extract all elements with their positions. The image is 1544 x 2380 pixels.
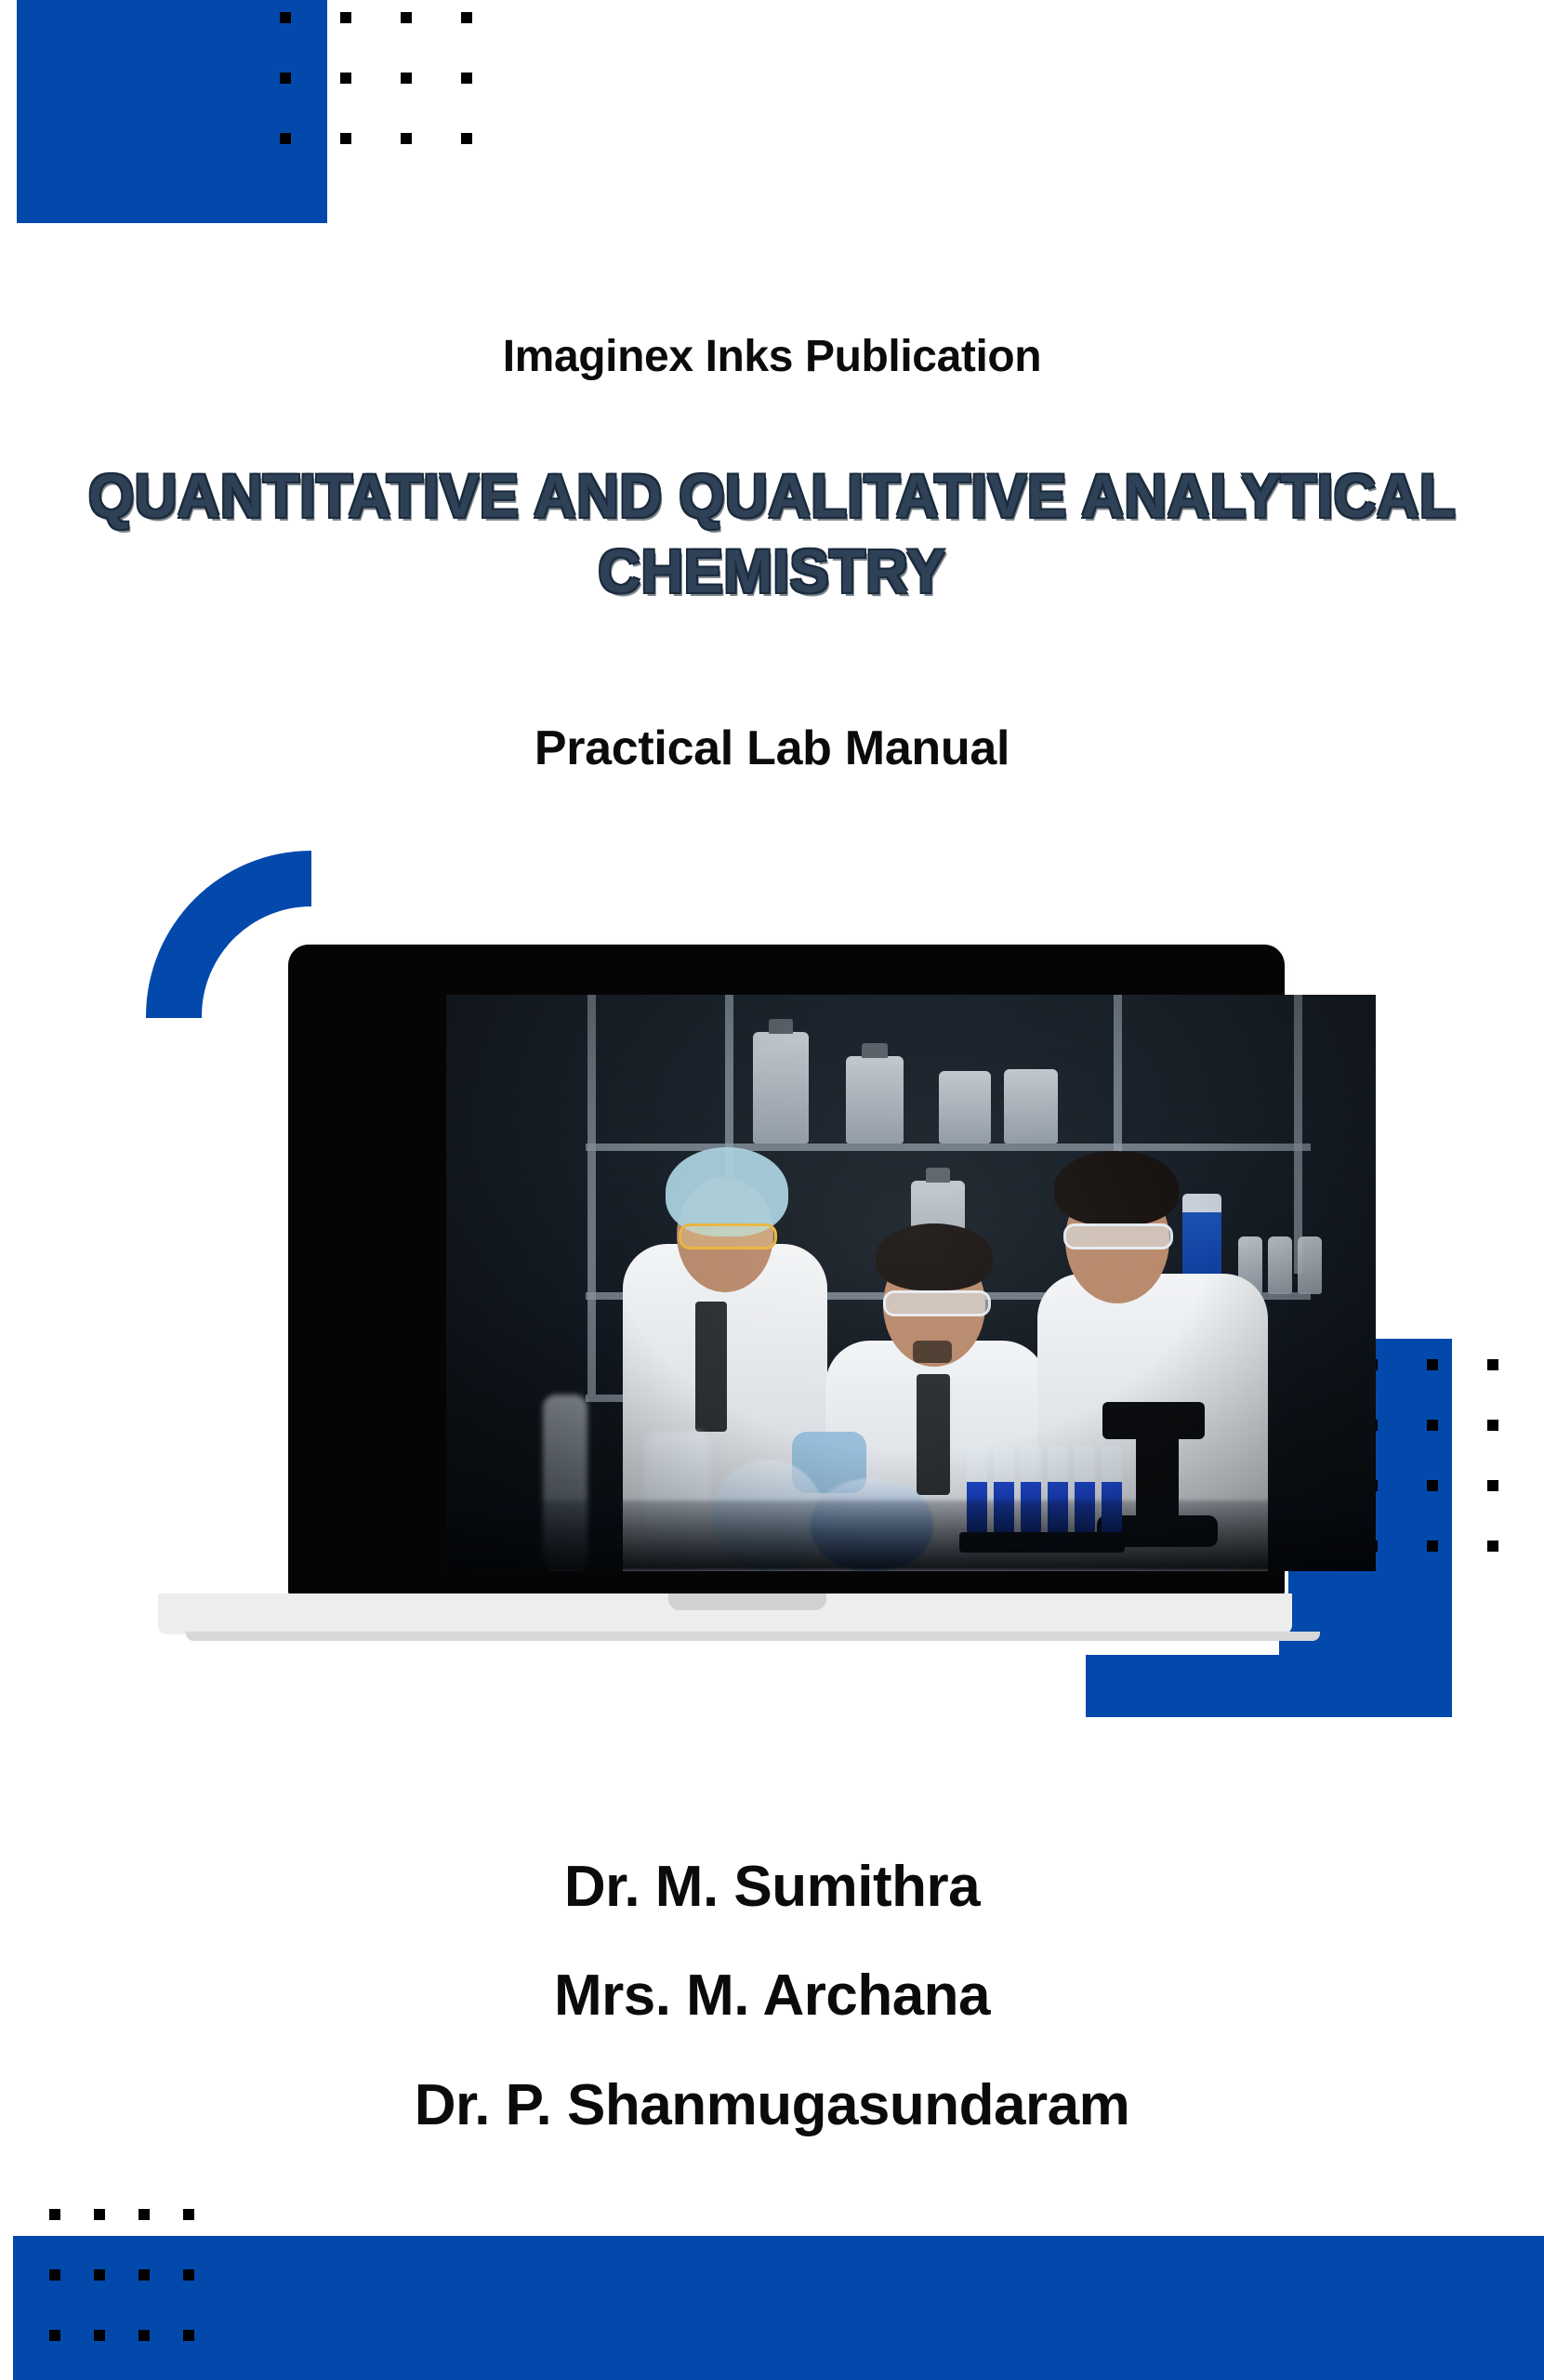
dot: [139, 2209, 150, 2220]
title-line-1: QUANTITATIVE AND QUALITATIVE ANALYTICAL: [85, 458, 1459, 534]
page-title: QUANTITATIVE AND QUALITATIVE ANALYTICAL …: [85, 458, 1459, 608]
lab-photo: [446, 995, 1376, 1571]
dot: [94, 2209, 105, 2220]
dot: [401, 73, 412, 84]
author-name: Dr. P. Shanmugasundaram: [0, 2073, 1544, 2137]
dot: [49, 2330, 60, 2341]
dot: [1427, 1359, 1438, 1370]
dot: [340, 73, 351, 84]
dot: [94, 2269, 105, 2281]
dot: [183, 2269, 194, 2281]
dot: [401, 12, 412, 23]
laptop-mockup: [158, 945, 1366, 1679]
right-dot-grid: [1366, 1359, 1544, 1601]
top-left-dot-grid: [280, 12, 521, 193]
title-line-2: CHEMISTRY: [85, 534, 1459, 609]
dot: [280, 73, 291, 84]
dot: [139, 2330, 150, 2341]
subtitle: Practical Lab Manual: [0, 721, 1544, 776]
dot: [1487, 1359, 1498, 1370]
dot: [94, 2330, 105, 2341]
dot: [1427, 1420, 1438, 1431]
dot: [461, 133, 472, 144]
dot: [461, 12, 472, 23]
dot: [183, 2330, 194, 2341]
laptop-lid: [288, 945, 1285, 1595]
book-cover: Imaginex Inks Publication QUANTITATIVE A…: [0, 0, 1544, 2380]
dot: [461, 73, 472, 84]
dot: [340, 133, 351, 144]
dot: [183, 2209, 194, 2220]
dot: [401, 133, 412, 144]
publisher-name: Imaginex Inks Publication: [0, 331, 1544, 382]
author-name: Mrs. M. Archana: [0, 1963, 1544, 2028]
dot: [49, 2269, 60, 2281]
laptop-screen: [446, 995, 1376, 1571]
bottom-dot-grid: [49, 2209, 228, 2380]
bottom-blue-bar: [13, 2236, 1544, 2380]
dot: [1487, 1540, 1498, 1552]
dot: [49, 2209, 60, 2220]
laptop-base-notch: [668, 1593, 826, 1610]
dot: [1427, 1480, 1438, 1491]
dot: [1487, 1480, 1498, 1491]
author-name: Dr. M. Sumithra: [0, 1855, 1544, 1919]
dot: [1487, 1420, 1498, 1431]
dot: [1427, 1540, 1438, 1552]
dot: [280, 12, 291, 23]
dot: [340, 12, 351, 23]
dot: [139, 2269, 150, 2281]
dot: [280, 133, 291, 144]
laptop-base-lip: [186, 1632, 1320, 1641]
author-list: Dr. M. Sumithra Mrs. M. Archana Dr. P. S…: [0, 1855, 1544, 2137]
